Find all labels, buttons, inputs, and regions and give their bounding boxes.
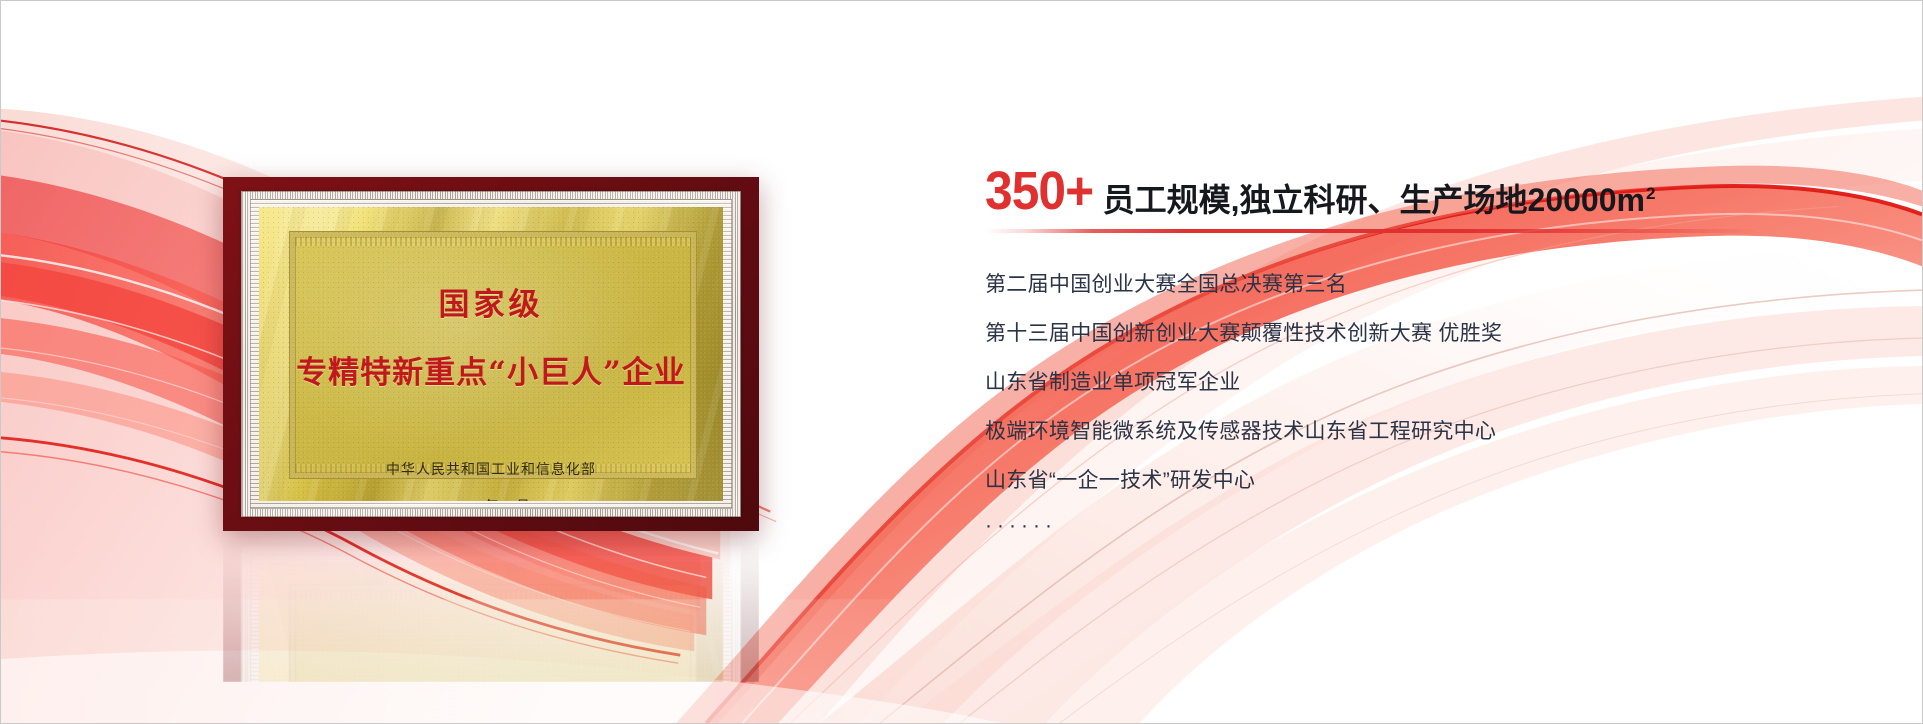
content-column: 350+ 员工规模,独立科研、生产场地20000m 2 第二届中国创业大赛全国总…	[985, 164, 1845, 564]
list-item: 极端环境智能微系统及传感器技术山东省工程研究中心	[985, 421, 1845, 442]
plaque-outer-frame: 国家级 专精特新重点“小巨人”企业 中华人民共和国工业和信息化部 2024年12…	[223, 177, 759, 531]
plaque-ornate-border-outer: 国家级 专精特新重点“小巨人”企业 中华人民共和国工业和信息化部 2024年12…	[241, 191, 741, 517]
list-item: 山东省“一企一技术”研发中心	[985, 470, 1845, 491]
plaque-ornate-border-inner: 国家级 专精特新重点“小巨人”企业 中华人民共和国工业和信息化部 2024年12…	[250, 199, 732, 509]
headline-metric: 350+	[985, 164, 1093, 218]
awards-more-indicator: ······	[985, 515, 1845, 536]
plaque-gold-plate: 国家级 专精特新重点“小巨人”企业 中华人民共和国工业和信息化部 2024年12…	[259, 207, 723, 501]
plaque-title-line-1: 国家级	[439, 279, 544, 324]
headline-superscript: 2	[1646, 185, 1655, 202]
list-item: 山东省制造业单项冠军企业	[985, 372, 1845, 393]
headline-divider	[985, 229, 1761, 233]
list-item: 第十三届中国创新创业大赛颠覆性技术创新大赛 优胜奖	[985, 323, 1845, 344]
awards-list: 第二届中国创业大赛全国总决赛第三名 第十三届中国创新创业大赛颠覆性技术创新大赛 …	[985, 274, 1845, 536]
promo-banner: 国家级 专精特新重点“小巨人”企业 中华人民共和国工业和信息化部 2024年12…	[0, 0, 1923, 724]
headline-description: 员工规模,独立科研、生产场地20000m	[1103, 184, 1645, 216]
award-plaque: 国家级 专精特新重点“小巨人”企业 中华人民共和国工业和信息化部 2024年12…	[223, 177, 759, 531]
list-item: 第二届中国创业大赛全国总决赛第三名	[985, 274, 1845, 295]
plaque-issuing-authority: 中华人民共和国工业和信息化部	[386, 459, 596, 479]
plaque-inscription: 国家级 专精特新重点“小巨人”企业 中华人民共和国工业和信息化部 2024年12…	[259, 207, 723, 501]
plaque-issue-date: 2024年12月	[452, 496, 531, 501]
plaque-title-line-2: 专精特新重点“小巨人”企业	[296, 347, 686, 392]
headline: 350+ 员工规模,独立科研、生产场地20000m 2	[985, 164, 1845, 218]
